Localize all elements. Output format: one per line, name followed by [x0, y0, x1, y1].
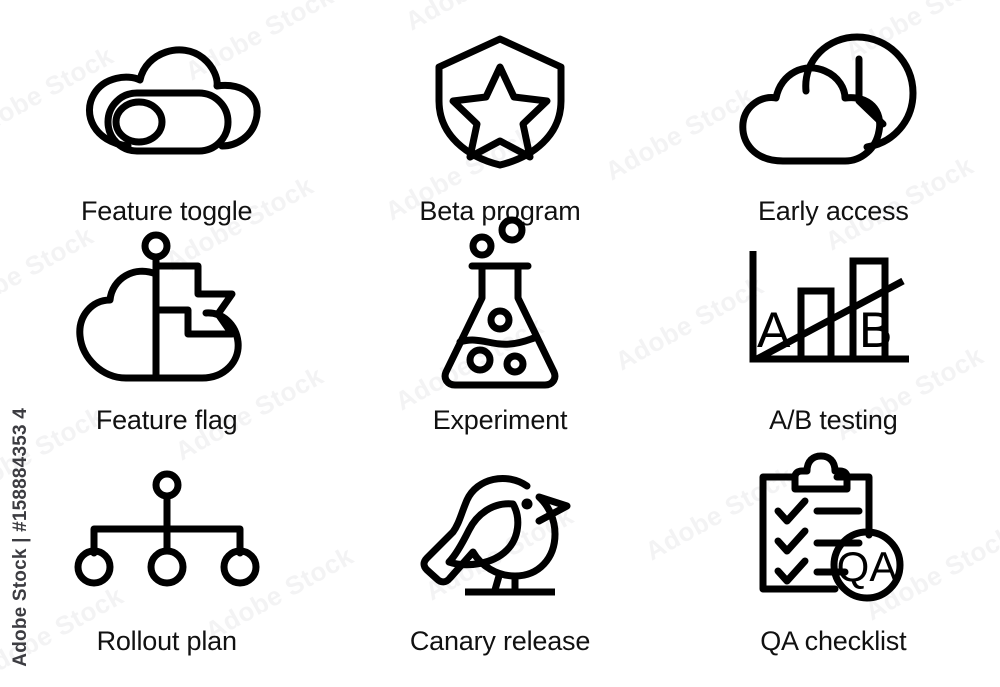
icon-label-ab-testing: A/B testing — [769, 407, 897, 434]
qa-badge-text: QA — [836, 543, 897, 590]
ab-bar-chart-icon: A B — [743, 237, 923, 387]
bird-icon — [415, 456, 585, 606]
icon-label-canary-release: Canary release — [410, 628, 590, 655]
hierarchy-tree-icon — [72, 456, 262, 606]
icon-label-beta-program: Beta program — [419, 198, 580, 225]
icon-cell-feature-flag[interactable]: Feature flag — [0, 225, 333, 446]
icon-cell-canary-release[interactable]: Canary release — [333, 446, 666, 667]
icon-cell-feature-toggle[interactable]: Feature toggle — [0, 0, 333, 225]
cloud-toggle-icon — [72, 26, 262, 176]
icon-cell-ab-testing[interactable]: A B A/B testing — [667, 225, 1000, 446]
bar-label-b: B — [859, 302, 892, 358]
icon-label-early-access: Early access — [758, 198, 909, 225]
icon-cell-beta-program[interactable]: Beta program — [333, 0, 666, 225]
icon-grid: Feature toggle Beta program Early — [0, 0, 1000, 667]
icon-cell-experiment[interactable]: Experiment — [333, 225, 666, 446]
icon-cell-qa-checklist[interactable]: QA QA checklist — [667, 446, 1000, 667]
icon-label-feature-flag: Feature flag — [96, 407, 238, 434]
icon-label-rollout-plan: Rollout plan — [97, 628, 237, 655]
icon-label-qa-checklist: QA checklist — [760, 628, 906, 655]
flask-icon — [430, 237, 570, 387]
icon-label-experiment: Experiment — [433, 407, 568, 434]
cloud-flag-icon — [72, 237, 262, 387]
bar-label-a: A — [757, 302, 791, 358]
shield-star-icon — [425, 26, 575, 176]
clipboard-qa-icon: QA — [751, 456, 916, 606]
cloud-clock-icon — [733, 26, 933, 176]
icon-label-feature-toggle: Feature toggle — [81, 198, 252, 225]
icon-cell-early-access[interactable]: Early access — [667, 0, 1000, 225]
icon-cell-rollout-plan[interactable]: Rollout plan — [0, 446, 333, 667]
